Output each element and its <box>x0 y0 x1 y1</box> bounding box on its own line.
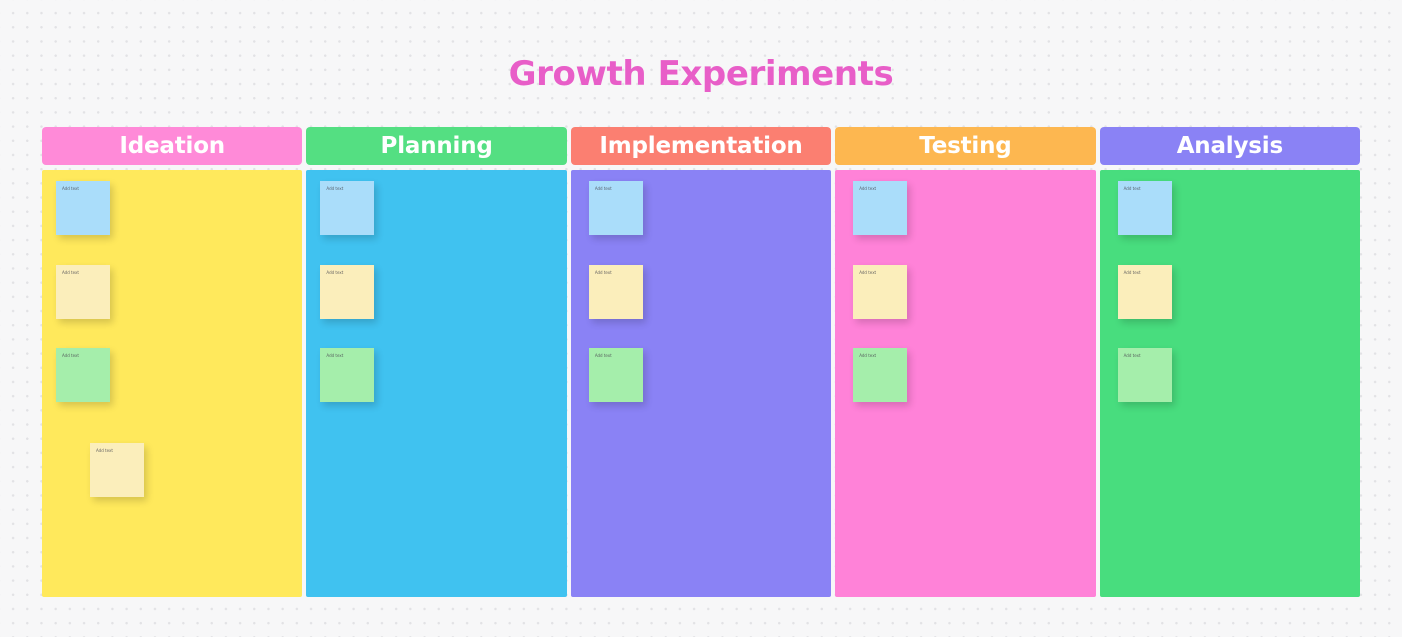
board-column-testing: TestingAdd textAdd textAdd text <box>835 127 1095 597</box>
sticky-note[interactable]: Add text <box>1118 348 1172 402</box>
sticky-note[interactable]: Add text <box>56 348 110 402</box>
column-body-analysis[interactable]: Add textAdd textAdd text <box>1100 170 1360 597</box>
board-column-analysis: AnalysisAdd textAdd textAdd text <box>1100 127 1360 597</box>
sticky-note[interactable]: Add text <box>320 265 374 319</box>
sticky-note[interactable]: Add text <box>589 265 643 319</box>
sticky-note-text: Add text <box>90 443 144 453</box>
sticky-note-text: Add text <box>56 265 110 275</box>
column-header-planning[interactable]: Planning <box>306 127 566 165</box>
column-header-analysis[interactable]: Analysis <box>1100 127 1360 165</box>
sticky-note[interactable]: Add text <box>589 181 643 235</box>
column-header-label: Implementation <box>593 133 808 159</box>
sticky-note[interactable]: Add text <box>320 348 374 402</box>
column-header-label: Testing <box>913 133 1017 159</box>
sticky-note-text: Add text <box>1118 348 1172 358</box>
sticky-note[interactable]: Add text <box>90 443 144 497</box>
sticky-note[interactable]: Add text <box>320 181 374 235</box>
column-body-implementation[interactable]: Add textAdd textAdd text <box>571 170 831 597</box>
sticky-note[interactable]: Add text <box>56 181 110 235</box>
column-header-label: Planning <box>375 133 499 159</box>
sticky-note[interactable]: Add text <box>853 181 907 235</box>
sticky-note[interactable]: Add text <box>853 265 907 319</box>
sticky-note-text: Add text <box>853 181 907 191</box>
sticky-note-text: Add text <box>853 265 907 275</box>
board-columns: IdeationAdd textAdd textAdd textAdd text… <box>42 127 1360 597</box>
sticky-note-text: Add text <box>589 348 643 358</box>
sticky-note-text: Add text <box>1118 181 1172 191</box>
board-column-implementation: ImplementationAdd textAdd textAdd text <box>571 127 831 597</box>
column-body-testing[interactable]: Add textAdd textAdd text <box>835 170 1095 597</box>
column-body-ideation[interactable]: Add textAdd textAdd textAdd text <box>42 170 302 597</box>
kanban-board: Growth Experiments IdeationAdd textAdd t… <box>0 0 1402 637</box>
column-header-label: Analysis <box>1171 133 1289 159</box>
column-header-ideation[interactable]: Ideation <box>42 127 302 165</box>
board-column-ideation: IdeationAdd textAdd textAdd textAdd text <box>42 127 302 597</box>
sticky-note-text: Add text <box>320 348 374 358</box>
sticky-note-text: Add text <box>56 181 110 191</box>
column-header-label: Ideation <box>113 133 231 159</box>
sticky-note-text: Add text <box>320 265 374 275</box>
sticky-note-text: Add text <box>320 181 374 191</box>
sticky-note-text: Add text <box>56 348 110 358</box>
sticky-note[interactable]: Add text <box>56 265 110 319</box>
sticky-note-text: Add text <box>589 265 643 275</box>
sticky-note-text: Add text <box>853 348 907 358</box>
sticky-note-text: Add text <box>1118 265 1172 275</box>
sticky-note[interactable]: Add text <box>589 348 643 402</box>
column-header-implementation[interactable]: Implementation <box>571 127 831 165</box>
sticky-note[interactable]: Add text <box>1118 265 1172 319</box>
column-header-testing[interactable]: Testing <box>835 127 1095 165</box>
page-title: Growth Experiments <box>0 52 1402 96</box>
column-body-planning[interactable]: Add textAdd textAdd text <box>306 170 566 597</box>
sticky-note[interactable]: Add text <box>1118 181 1172 235</box>
sticky-note[interactable]: Add text <box>853 348 907 402</box>
board-column-planning: PlanningAdd textAdd textAdd text <box>306 127 566 597</box>
sticky-note-text: Add text <box>589 181 643 191</box>
